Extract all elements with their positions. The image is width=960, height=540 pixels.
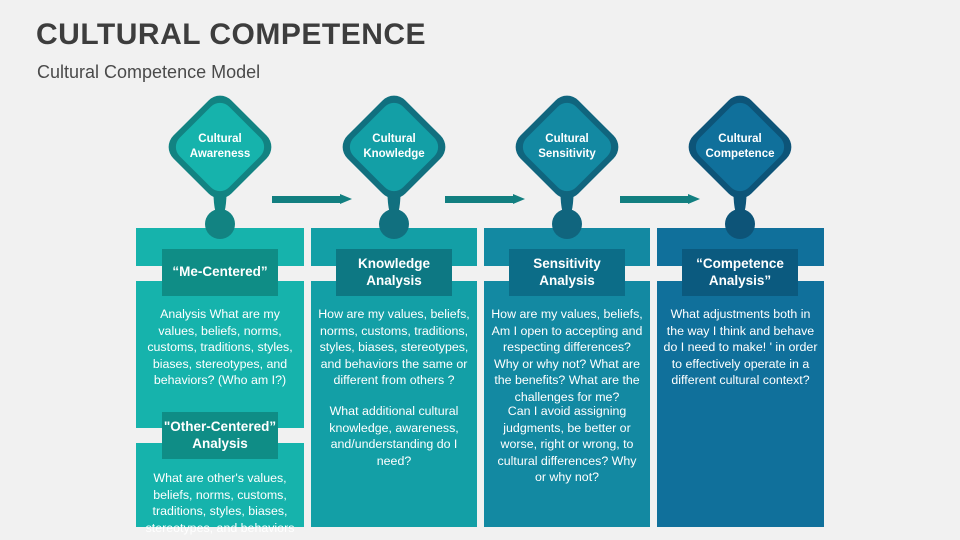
column-paragraph-2: What additional cultural knowledge, awar…: [323, 403, 465, 469]
stem-knob: [725, 209, 755, 239]
column-header-box[interactable]: Sensitivity Analysis: [509, 249, 625, 296]
diamond-fill: [691, 98, 790, 197]
page-subtitle: Cultural Competence Model: [37, 62, 260, 83]
column-paragraph-1: Analysis What are my values, beliefs, no…: [144, 306, 296, 389]
node-cultural-awareness[interactable]: Cultural Awareness: [170, 97, 270, 197]
diamond-shape: [517, 97, 617, 197]
arrow-1: [272, 194, 352, 205]
column-paragraph-1: How are my values, beliefs, Am I open to…: [490, 306, 644, 405]
page-title: CULTURAL COMPETENCE: [36, 18, 426, 52]
stem-knob: [205, 209, 235, 239]
diamond-fill: [518, 98, 617, 197]
column-header-box[interactable]: “Me-Centered”: [162, 249, 278, 296]
column-paragraph-1: How are my values, beliefs, norms, custo…: [317, 306, 471, 389]
column-header-box[interactable]: Knowledge Analysis: [336, 249, 452, 296]
node-cultural-knowledge[interactable]: Cultural Knowledge: [344, 97, 444, 197]
arrow-shaft: [445, 196, 514, 203]
column-paragraph-1: What adjustments both in the way I think…: [663, 306, 818, 389]
column-header-box-2[interactable]: "Other-Centered” Analysis: [162, 412, 278, 459]
me-centered-column[interactable]: “Me-Centered” Analysis What are my value…: [136, 228, 304, 527]
stem-knob: [379, 209, 409, 239]
arrow-shaft: [620, 196, 689, 203]
arrow-shaft: [272, 196, 341, 203]
diamond-shape: [344, 97, 444, 197]
diamond-shape: [690, 97, 790, 197]
slide-canvas: CULTURAL COMPETENCE Cultural Competence …: [0, 0, 960, 540]
column-paragraph-2: Can I avoid assigning judgments, be bett…: [492, 403, 642, 486]
stem-knob: [552, 209, 582, 239]
column-header-box[interactable]: “Competence Analysis”: [682, 249, 798, 296]
knowledge-analysis-column[interactable]: Knowledge Analysis How are my values, be…: [311, 228, 477, 527]
node-cultural-sensitivity[interactable]: Cultural Sensitivity: [517, 97, 617, 197]
column-paragraph-2: What are other's values, beliefs, norms,…: [144, 470, 296, 536]
arrow-2: [445, 194, 525, 205]
diamond-fill: [171, 98, 270, 197]
node-cultural-competence[interactable]: Cultural Competence: [690, 97, 790, 197]
diamond-fill: [345, 98, 444, 197]
competence-analysis-column[interactable]: “Competence Analysis” What adjustments b…: [657, 228, 824, 527]
sensitivity-analysis-column[interactable]: Sensitivity Analysis How are my values, …: [484, 228, 650, 527]
diamond-shape: [170, 97, 270, 197]
arrow-3: [620, 194, 700, 205]
